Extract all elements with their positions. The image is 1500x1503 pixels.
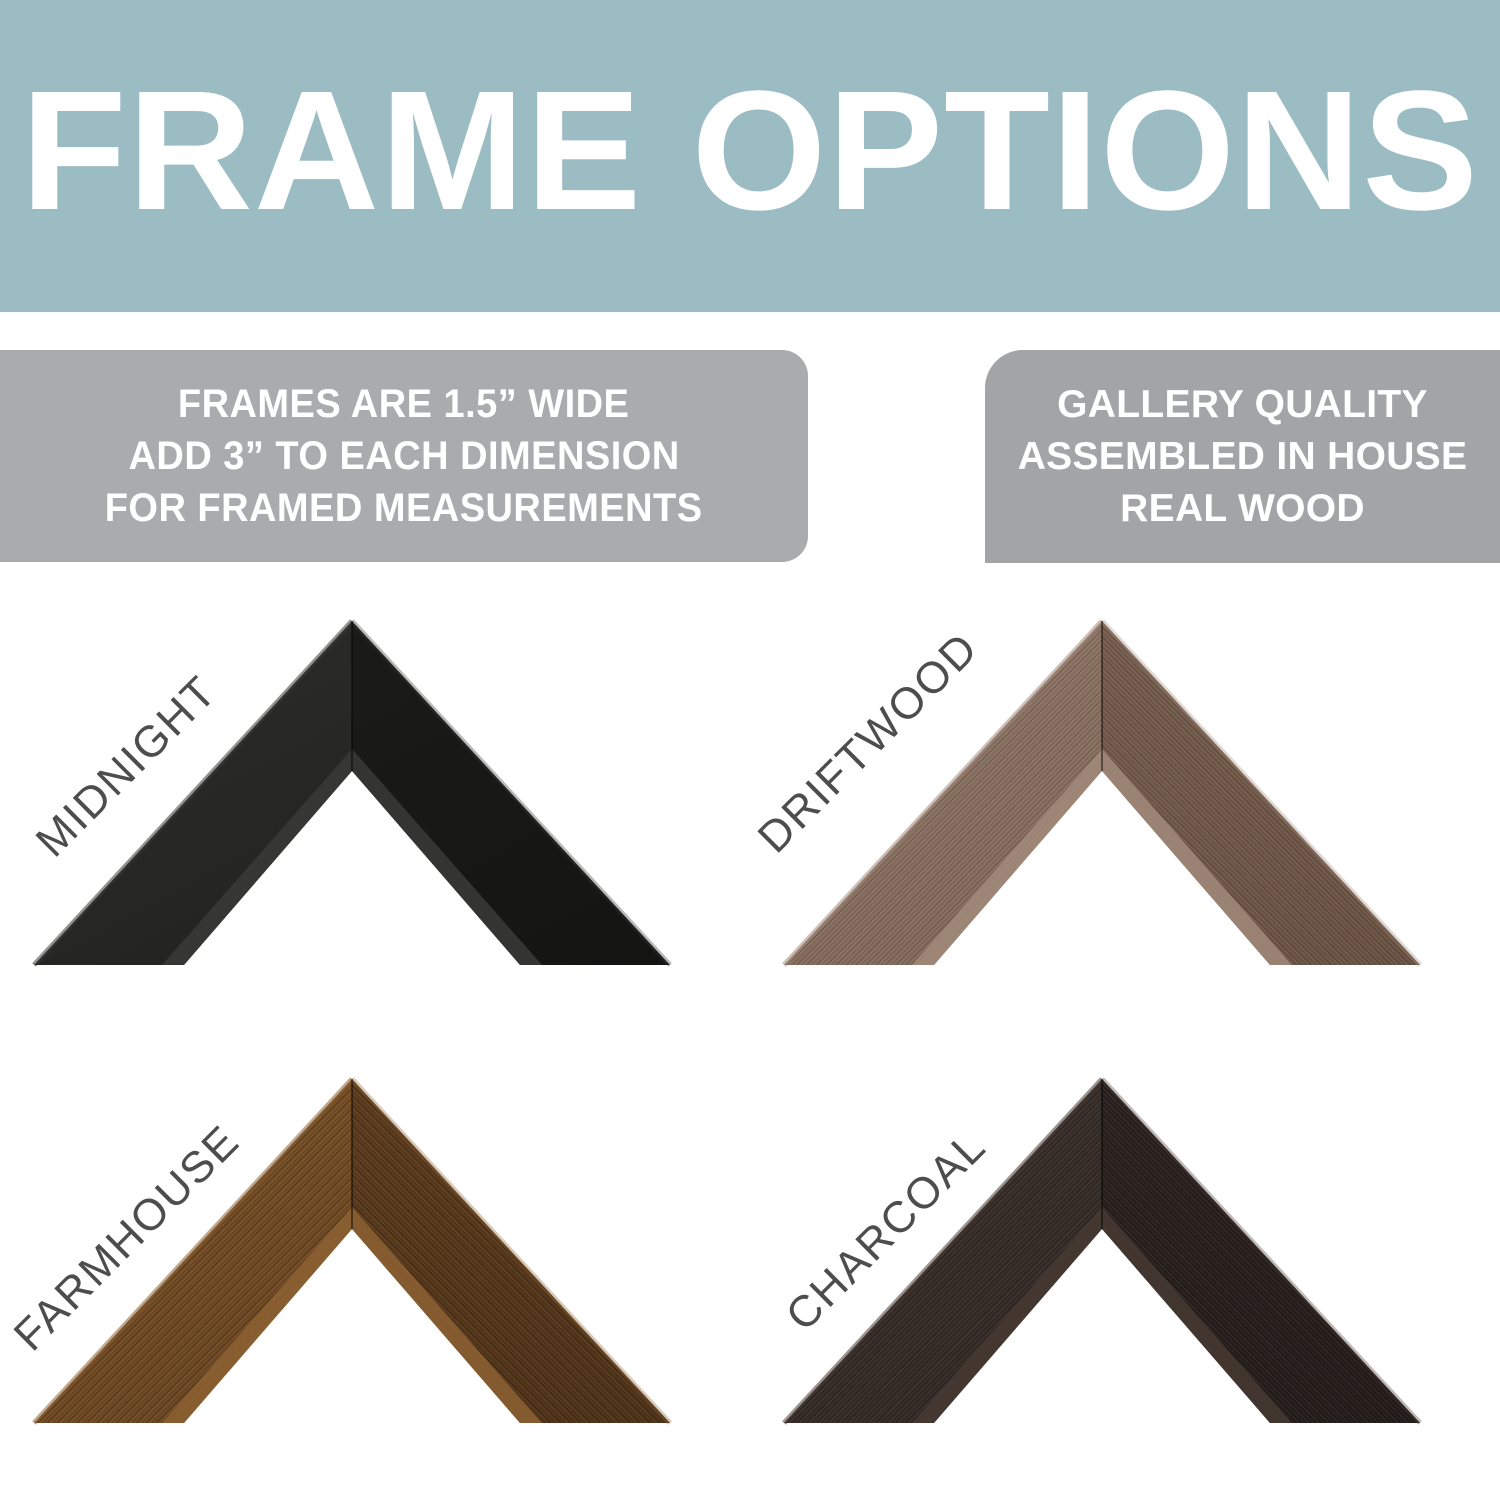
frame-sample-farmhouse[interactable]: FARMHOUSE [0,1043,750,1503]
measurements-note-line-1: FRAMES ARE 1.5” WIDE [178,378,629,430]
frame-sample-driftwood[interactable]: DRIFTWOOD [750,585,1500,1045]
frame-corner-driftwood [772,613,1432,983]
quality-note-box: GALLERY QUALITY ASSEMBLED IN HOUSE REAL … [985,350,1500,563]
header-banner: FRAME OPTIONS [0,0,1500,312]
measurements-note-line-3: FOR FRAMED MEASUREMENTS [105,482,703,534]
measurements-note-line-2: ADD 3” TO EACH DIMENSION [128,430,679,482]
frame-samples-grid: MIDNIGHT DRIFTWOOD FARMHOUSE CHARCOAL [0,585,1500,1500]
frame-sample-charcoal[interactable]: CHARCOAL [750,1043,1500,1503]
frame-corner-shape [772,613,1432,983]
quality-note-line-2: ASSEMBLED IN HOUSE [1018,431,1468,483]
measurements-note-box: FRAMES ARE 1.5” WIDE ADD 3” TO EACH DIME… [0,350,808,562]
quality-note-line-1: GALLERY QUALITY [1057,379,1428,431]
quality-note-line-3: REAL WOOD [1120,483,1365,535]
frame-sample-midnight[interactable]: MIDNIGHT [0,585,750,1045]
page-title: FRAME OPTIONS [21,66,1479,246]
